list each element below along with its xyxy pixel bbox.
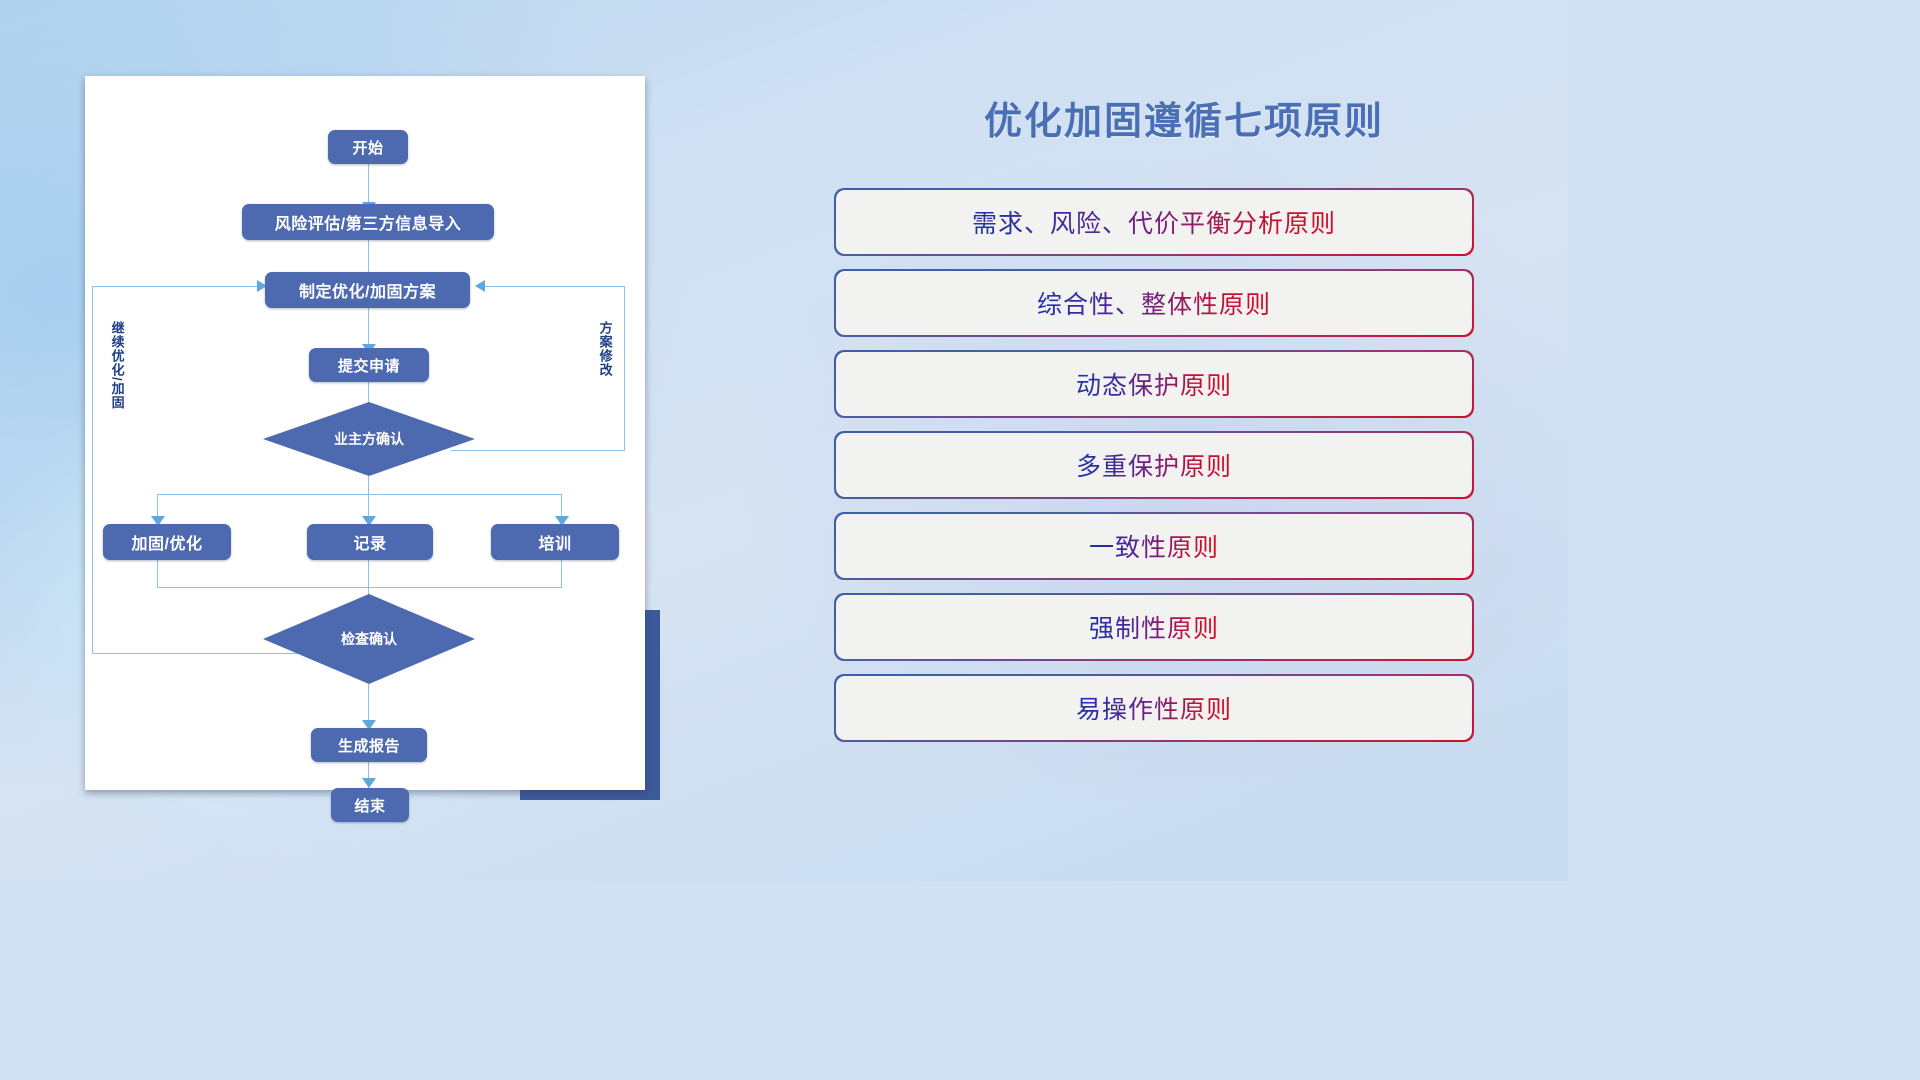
principle-item-5-label: 一致性原则	[1089, 528, 1219, 564]
flow-node-risk-assessment-label: 风险评估/第三方信息导入	[275, 210, 461, 234]
flow-node-end-label: 结束	[354, 795, 385, 816]
connector-leftloop-vertical	[92, 286, 93, 654]
principle-item-7[interactable]: 易操作性原则	[836, 676, 1472, 740]
flow-node-plan[interactable]: 制定优化/加固方案	[265, 272, 470, 308]
principle-item-7-label: 易操作性原则	[1076, 690, 1232, 726]
flow-node-start[interactable]: 开始	[328, 130, 408, 164]
connector-leftloop-top	[92, 286, 260, 287]
connector-collect-right	[561, 560, 562, 588]
flow-node-training-label: 培训	[538, 530, 571, 554]
principle-item-5[interactable]: 一致性原则	[836, 514, 1472, 578]
flowchart-card: 开始 风险评估/第三方信息导入 制定优化/加固方案 提交申请 业主方确认 加固/…	[85, 76, 645, 790]
principle-item-6[interactable]: 强制性原则	[836, 595, 1472, 659]
principle-item-1-label: 需求、风险、代价平衡分析原则	[972, 204, 1336, 240]
connector-rightloop-top	[484, 286, 625, 287]
principle-item-6-label: 强制性原则	[1089, 609, 1219, 645]
principle-item-1[interactable]: 需求、风险、代价平衡分析原则	[836, 190, 1472, 254]
connector-collect-left	[157, 560, 158, 588]
principle-item-3[interactable]: 动态保护原则	[836, 352, 1472, 416]
connector-leftloop-bottom	[92, 653, 326, 654]
principles-title: 优化加固遵循七项原则	[800, 90, 1568, 145]
connector-start-risk	[368, 164, 369, 206]
flow-node-plan-label: 制定优化/加固方案	[299, 278, 436, 302]
flow-node-end[interactable]: 结束	[331, 788, 409, 822]
flowchart: 开始 风险评估/第三方信息导入 制定优化/加固方案 提交申请 业主方确认 加固/…	[85, 76, 645, 790]
connector-fan-top	[157, 494, 562, 495]
slide-canvas: 开始 风险评估/第三方信息导入 制定优化/加固方案 提交申请 业主方确认 加固/…	[0, 0, 1568, 881]
flow-node-training[interactable]: 培训	[491, 524, 619, 560]
principle-item-3-label: 动态保护原则	[1076, 366, 1232, 402]
flow-node-risk-assessment[interactable]: 风险评估/第三方信息导入	[242, 204, 494, 240]
edge-label-plan-revision: 方案修改	[598, 321, 612, 421]
flow-node-owner-confirm-label: 业主方确认	[334, 429, 404, 449]
flow-node-check-confirm[interactable]: 检查确认	[263, 594, 475, 684]
principles-list: 需求、风险、代价平衡分析原则 综合性、整体性原则 动态保护原则 多重保护原则 一…	[836, 190, 1472, 757]
flow-node-check-confirm-label: 检查确认	[341, 629, 397, 649]
principle-item-2-label: 综合性、整体性原则	[1037, 285, 1271, 321]
connector-rightloop-vertical	[624, 286, 625, 451]
flow-node-submit[interactable]: 提交申请	[309, 348, 429, 382]
connector-collect-bottom	[157, 587, 562, 588]
principle-item-2[interactable]: 综合性、整体性原则	[836, 271, 1472, 335]
flow-node-reinforce[interactable]: 加固/优化	[103, 524, 231, 560]
flow-node-owner-confirm[interactable]: 业主方确认	[263, 402, 475, 476]
arrowhead-rightloop-plan	[475, 280, 485, 292]
connector-rightloop-bottom	[451, 450, 625, 451]
edge-label-continue-optimize: 继续优化/加固	[110, 321, 124, 451]
flow-node-record-label: 记录	[353, 530, 386, 554]
flow-node-record[interactable]: 记录	[307, 524, 433, 560]
principles-panel: 优化加固遵循七项原则 需求、风险、代价平衡分析原则 综合性、整体性原则 动态保护…	[800, 0, 1568, 881]
flow-node-submit-label: 提交申请	[338, 355, 400, 376]
flow-node-reinforce-label: 加固/优化	[132, 530, 203, 554]
arrowhead-report-end	[362, 778, 376, 788]
principle-item-4[interactable]: 多重保护原则	[836, 433, 1472, 497]
flow-node-start-label: 开始	[352, 137, 383, 158]
flow-node-report-label: 生成报告	[338, 735, 400, 756]
flow-node-report[interactable]: 生成报告	[311, 728, 427, 762]
principle-item-4-label: 多重保护原则	[1076, 447, 1232, 483]
